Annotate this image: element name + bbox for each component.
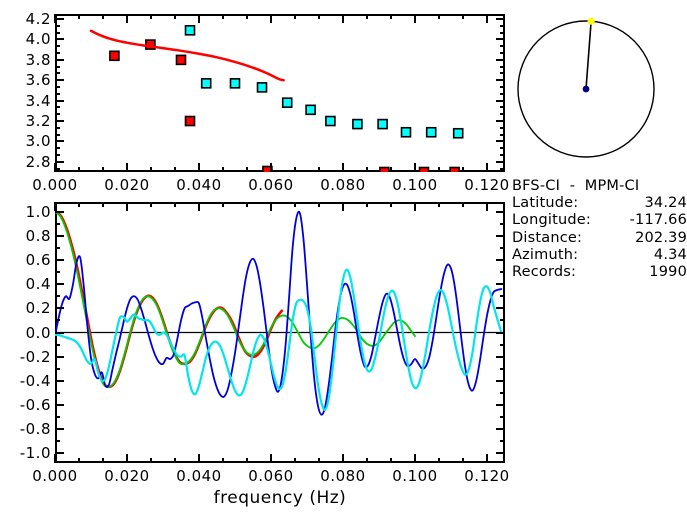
data-marker	[353, 120, 362, 129]
axis-tick	[496, 38, 505, 40]
station-info-panel: BFS-CI - MPM-CI Latitude:34.24Longitude:…	[512, 178, 687, 281]
axis-tick	[78, 458, 80, 463]
data-marker	[420, 168, 429, 173]
info-row-label: Records:	[512, 264, 576, 280]
axis-tick	[294, 202, 296, 207]
dispersion-plot-canvas	[55, 14, 505, 172]
axis-tick	[294, 14, 296, 19]
axis-tick	[496, 283, 505, 285]
axis-tick	[500, 127, 505, 129]
axis-tick	[55, 452, 64, 454]
axis-tick	[55, 283, 64, 285]
y-tick-label: 4.2	[0, 10, 51, 28]
data-marker	[306, 105, 315, 114]
axis-tick	[414, 163, 416, 172]
info-row-azimuth: Azimuth:4.34	[512, 247, 687, 264]
y-tick-label: 3.4	[0, 92, 51, 110]
axis-tick	[150, 14, 152, 19]
axis-tick	[55, 416, 60, 418]
axis-tick	[126, 454, 128, 463]
axis-tick	[55, 259, 64, 261]
axis-tick	[55, 161, 64, 163]
axis-tick	[496, 404, 505, 406]
axis-tick	[342, 14, 344, 23]
data-marker	[177, 55, 186, 64]
x-tick-label: 0.020	[87, 176, 167, 194]
axis-tick	[55, 319, 60, 321]
y-tick-label: 3.8	[0, 51, 51, 69]
axis-tick	[496, 452, 505, 454]
axis-tick	[366, 167, 368, 172]
data-marker	[283, 98, 292, 107]
axis-tick	[500, 223, 505, 225]
axis-tick	[55, 140, 64, 142]
series-line	[55, 212, 501, 415]
axis-tick	[496, 140, 505, 142]
axis-tick	[500, 113, 505, 115]
axis-tick	[55, 168, 60, 170]
azimuth-diagram	[512, 8, 682, 176]
info-row-value: 34.24	[644, 195, 687, 212]
axis-tick	[270, 202, 272, 211]
axis-tick	[438, 167, 440, 172]
axis-tick	[246, 202, 248, 207]
axis-tick	[55, 113, 60, 115]
info-row-label: Azimuth:	[512, 247, 578, 263]
axis-tick	[500, 66, 505, 68]
axis-tick	[55, 428, 64, 430]
axis-tick	[342, 202, 344, 211]
axis-tick	[198, 163, 200, 172]
axis-tick	[500, 319, 505, 321]
axis-tick	[496, 100, 505, 102]
axis-tick	[496, 18, 505, 20]
axis-tick	[496, 235, 505, 237]
axis-tick	[55, 368, 60, 370]
axis-tick	[414, 202, 416, 211]
axis-tick	[462, 458, 464, 463]
axis-tick	[55, 404, 64, 406]
azimuth-endpoint-dot	[588, 18, 595, 25]
info-row-label: Longitude:	[512, 212, 591, 228]
axis-tick	[126, 202, 128, 211]
axis-tick	[55, 332, 64, 334]
x-tick-label: 0.100	[375, 467, 455, 485]
axis-tick	[496, 120, 505, 122]
axis-tick	[500, 93, 505, 95]
info-row-value: 1990	[649, 264, 687, 281]
axis-tick	[486, 14, 488, 23]
axis-tick	[500, 72, 505, 74]
data-marker	[402, 128, 411, 137]
data-marker	[186, 117, 195, 126]
axis-tick	[55, 32, 60, 34]
axis-tick	[500, 295, 505, 297]
axis-tick	[126, 163, 128, 172]
y-tick-label: 0.0	[0, 324, 51, 342]
data-marker	[231, 79, 240, 88]
axis-tick	[54, 202, 56, 211]
axis-tick	[222, 167, 224, 172]
y-tick-label: 1.0	[0, 203, 51, 221]
axis-tick	[55, 392, 60, 394]
series-line	[55, 212, 415, 387]
axis-tick	[486, 163, 488, 172]
axis-tick	[55, 86, 60, 88]
axis-tick	[54, 454, 56, 463]
axis-tick	[78, 202, 80, 207]
axis-tick	[318, 167, 320, 172]
axis-tick	[294, 458, 296, 463]
axis-tick	[55, 66, 60, 68]
axis-tick	[55, 38, 64, 40]
axis-tick	[55, 25, 60, 27]
data-marker	[326, 117, 335, 126]
axis-tick	[496, 161, 505, 163]
axis-tick	[78, 14, 80, 19]
axis-tick	[390, 458, 392, 463]
axis-tick	[496, 259, 505, 261]
data-marker	[427, 128, 436, 137]
axis-tick	[366, 202, 368, 207]
x-tick-label: 0.100	[375, 176, 455, 194]
info-row-distance: Distance:202.39	[512, 230, 687, 247]
axis-tick	[500, 147, 505, 149]
axis-tick	[55, 356, 64, 358]
x-tick-label: 0.000	[15, 467, 95, 485]
axis-tick	[500, 32, 505, 34]
axis-tick	[150, 202, 152, 207]
axis-tick	[496, 59, 505, 61]
axis-tick	[496, 79, 505, 81]
x-axis-title: frequency (Hz)	[0, 488, 560, 508]
axis-tick	[496, 211, 505, 213]
y-tick-label: -0.2	[0, 348, 51, 366]
y-tick-label: -1.0	[0, 444, 51, 462]
y-tick-label: 0.6	[0, 251, 51, 269]
axis-tick	[270, 14, 272, 23]
axis-tick	[55, 344, 60, 346]
axis-tick	[55, 147, 60, 149]
axis-tick	[500, 368, 505, 370]
y-tick-label: 3.6	[0, 71, 51, 89]
axis-tick	[500, 154, 505, 156]
axis-tick	[496, 380, 505, 382]
data-marker	[202, 79, 211, 88]
axis-tick	[438, 458, 440, 463]
x-tick-label: 0.120	[447, 467, 527, 485]
axis-tick	[55, 235, 64, 237]
axis-tick	[55, 223, 60, 225]
y-tick-label: -0.4	[0, 372, 51, 390]
data-marker	[258, 83, 267, 92]
axis-tick	[366, 14, 368, 19]
info-row-label: Latitude:	[512, 195, 578, 211]
x-tick-label: 0.080	[303, 467, 383, 485]
axis-tick	[390, 14, 392, 19]
y-tick-label: 4.0	[0, 30, 51, 48]
axis-tick	[55, 134, 60, 136]
axis-tick	[500, 271, 505, 273]
axis-tick	[55, 18, 64, 20]
axis-tick	[496, 332, 505, 334]
series-line	[91, 31, 284, 80]
axis-tick	[366, 458, 368, 463]
y-tick-label: 2.8	[0, 153, 51, 171]
axis-tick	[500, 344, 505, 346]
data-marker	[380, 168, 389, 173]
axis-tick	[174, 14, 176, 19]
axis-tick	[500, 247, 505, 249]
axis-tick	[174, 202, 176, 207]
y-tick-label: 3.0	[0, 132, 51, 150]
axis-tick	[198, 202, 200, 211]
axis-tick	[102, 202, 104, 207]
x-tick-label: 0.040	[159, 176, 239, 194]
axis-tick	[246, 167, 248, 172]
axis-tick	[55, 72, 60, 74]
station-info-rows: Latitude:34.24Longitude:-117.66Distance:…	[512, 195, 687, 281]
axis-tick	[55, 307, 64, 309]
info-row-value: -117.66	[630, 212, 687, 229]
axis-tick	[55, 440, 60, 442]
axis-tick	[55, 295, 60, 297]
info-row-label: Distance:	[512, 230, 582, 246]
axis-tick	[222, 14, 224, 19]
axis-tick	[126, 14, 128, 23]
axis-tick	[174, 458, 176, 463]
axis-tick	[414, 454, 416, 463]
axis-tick	[102, 458, 104, 463]
data-marker	[110, 51, 119, 60]
x-tick-label: 0.020	[87, 467, 167, 485]
axis-tick	[55, 79, 64, 81]
axis-tick	[496, 428, 505, 430]
axis-tick	[270, 163, 272, 172]
axis-tick	[222, 202, 224, 207]
y-tick-label: 3.2	[0, 112, 51, 130]
series-line	[55, 270, 501, 410]
axis-tick	[55, 93, 60, 95]
axis-tick	[55, 154, 60, 156]
axis-tick	[486, 454, 488, 463]
axis-tick	[462, 14, 464, 19]
axis-tick	[78, 167, 80, 172]
axis-tick	[55, 52, 60, 54]
axis-tick	[500, 168, 505, 170]
axis-tick	[390, 167, 392, 172]
info-row-value: 202.39	[635, 230, 687, 247]
axis-tick	[390, 202, 392, 207]
axis-tick	[222, 458, 224, 463]
axis-tick	[496, 307, 505, 309]
axis-tick	[55, 106, 60, 108]
axis-tick	[102, 167, 104, 172]
azimuth-svg	[512, 8, 682, 176]
axis-tick	[462, 167, 464, 172]
axis-tick	[55, 271, 60, 273]
y-tick-label: 0.8	[0, 227, 51, 245]
axis-tick	[55, 380, 64, 382]
axis-tick	[500, 440, 505, 442]
data-marker	[454, 129, 463, 138]
info-row-value: 4.34	[654, 247, 687, 264]
axis-tick	[438, 14, 440, 19]
axis-tick	[55, 127, 60, 129]
axis-tick	[496, 356, 505, 358]
data-marker	[450, 168, 459, 173]
data-marker	[378, 120, 387, 129]
y-tick-label: -0.6	[0, 396, 51, 414]
axis-tick	[500, 416, 505, 418]
axis-tick	[246, 458, 248, 463]
axis-tick	[500, 52, 505, 54]
axis-tick	[318, 458, 320, 463]
x-tick-label: 0.040	[159, 467, 239, 485]
axis-tick	[55, 59, 64, 61]
x-tick-label: 0.000	[15, 176, 95, 194]
axis-tick	[318, 202, 320, 207]
axis-tick	[500, 134, 505, 136]
axis-tick	[500, 392, 505, 394]
axis-tick	[500, 86, 505, 88]
axis-tick	[438, 202, 440, 207]
x-tick-label: 0.060	[231, 176, 311, 194]
x-tick-label: 0.080	[303, 176, 383, 194]
figure-root: 0.0000.0200.0400.0600.0800.1000.1202.83.…	[0, 0, 687, 519]
y-tick-label: 0.4	[0, 275, 51, 293]
axis-tick	[55, 247, 60, 249]
data-marker	[186, 26, 195, 35]
info-row-longitude: Longitude:-117.66	[512, 212, 687, 229]
axis-tick	[414, 14, 416, 23]
axis-tick	[150, 167, 152, 172]
axis-tick	[500, 25, 505, 27]
y-tick-label: -0.8	[0, 420, 51, 438]
axis-tick	[150, 458, 152, 463]
axis-tick	[294, 167, 296, 172]
axis-tick	[55, 211, 64, 213]
axis-tick	[174, 167, 176, 172]
axis-tick	[500, 106, 505, 108]
axis-tick	[246, 14, 248, 19]
info-row-latitude: Latitude:34.24	[512, 195, 687, 212]
axis-tick	[198, 14, 200, 23]
azimuth-center-dot	[583, 86, 590, 93]
coherency-plot-canvas	[55, 202, 505, 463]
axis-tick	[55, 45, 60, 47]
axis-tick	[55, 120, 64, 122]
axis-tick	[318, 14, 320, 19]
axis-tick	[55, 100, 64, 102]
station-pair-title: BFS-CI - MPM-CI	[512, 178, 687, 195]
axis-tick	[198, 454, 200, 463]
series-line	[55, 212, 282, 387]
azimuth-ray-line	[586, 21, 591, 89]
x-tick-label: 0.060	[231, 467, 311, 485]
axis-tick	[462, 202, 464, 207]
axis-tick	[102, 14, 104, 19]
info-row-records: Records:1990	[512, 264, 687, 281]
y-tick-label: 0.2	[0, 299, 51, 317]
axis-tick	[486, 202, 488, 211]
axis-tick	[342, 163, 344, 172]
axis-tick	[270, 454, 272, 463]
axis-tick	[500, 45, 505, 47]
axis-tick	[342, 454, 344, 463]
